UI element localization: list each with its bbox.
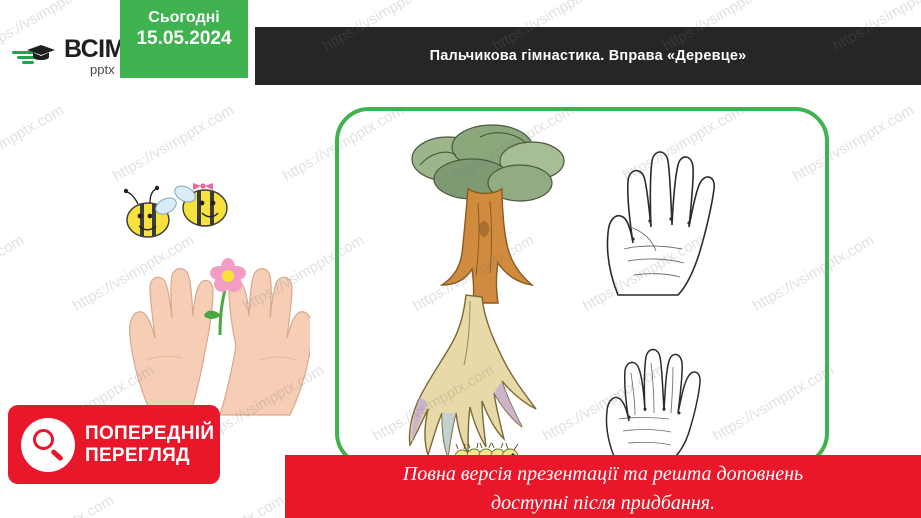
two-hands-fingers-drawing <box>595 325 735 465</box>
date-label: Сьогодні <box>120 9 248 27</box>
page-title: Пальчикова гімнастика. Вправа «Деревце» <box>255 27 921 85</box>
preview-line-2: ПЕРЕГЛЯД <box>85 445 214 466</box>
purchase-notice-banner: Повна версія презентації та решта доповн… <box>285 455 921 518</box>
header-bar: Пальчикова гімнастика. Вправа «Деревце» <box>255 27 921 85</box>
preview-line-1: ПОПЕРЕДНІЙ <box>85 423 214 444</box>
preview-label: ПОПЕРЕДНІЙ ПЕРЕГЛЯД <box>85 423 214 466</box>
logo-mark <box>12 39 58 73</box>
slide: https://vsimpptx.com https://vsimpptx.co… <box>0 0 921 518</box>
date-badge: Сьогодні 15.05.2024 <box>120 0 248 78</box>
tree-roots-illustration <box>370 285 595 475</box>
logo-brand: ВСІМ <box>64 37 125 62</box>
magnifier-icon <box>21 418 75 472</box>
date-value: 15.05.2024 <box>120 27 248 52</box>
banner-line-2: доступні після придбання. <box>285 489 921 518</box>
logo-text: ВСІМ pptx <box>64 37 125 76</box>
preview-badge[interactable]: ПОПЕРЕДНІЙ ПЕРЕГЛЯД <box>8 405 220 484</box>
two-hands-with-bees-illustration <box>100 160 310 420</box>
open-hand-drawing <box>590 127 730 297</box>
banner-line-1: Повна версія презентації та решта доповн… <box>285 460 921 489</box>
graduation-cap-icon <box>26 44 56 61</box>
